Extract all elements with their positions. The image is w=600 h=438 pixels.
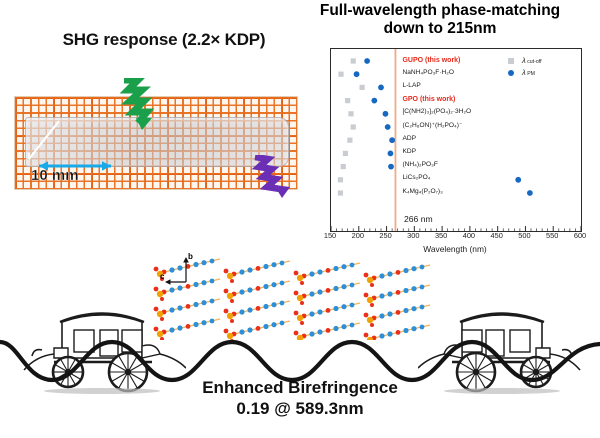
chart-canvas [331,49,581,231]
crystallographic-axes: b c [160,252,204,286]
legend-subscript: cut-off [526,59,542,65]
scale-bar-label: 10 mm [31,167,79,184]
x-tick-label: 550 [546,231,558,240]
birefringence-line2: 0.19 @ 589.3nm [60,399,540,420]
x-tick-label: 450 [490,231,502,240]
chart-row-label: (NH₄)₂PO₃F [402,162,437,169]
purple-wave-arrow [252,155,302,199]
crystal-facet-edge [27,119,61,163]
legend-subscript: PM [526,71,535,77]
birefringence-title: Enhanced Birefringence 0.19 @ 589.3nm [60,378,540,419]
chart-title: Full-wavelength phase-matching down to 2… [282,2,598,39]
chart-row-label: [C(NH2)₃]₂(PO₄)₂·3H₂O [402,109,471,116]
shg-response-title: SHG response (2.2× KDP) [14,30,314,50]
chart-row-label: KDP [402,149,416,156]
green-wave-arrow [118,78,180,132]
axis-label-c: c [160,272,165,281]
x-tick-label: 250 [379,231,391,240]
legend-label: λ cut-off [522,56,542,65]
x-tick-label: 150 [324,231,336,240]
x-tick-label: 600 [574,231,586,240]
x-tick-label: 350 [435,231,447,240]
chart-title-line2: down to 215nm [282,20,598,38]
chart-row-label: (C₂H₈ON)⁺(H₂PO₄)⁻ [402,123,462,130]
chart-title-line1: Full-wavelength phase-matching [282,2,598,20]
x-tick-label: 500 [518,231,530,240]
x-tick-label: 300 [407,231,419,240]
birefringence-line1: Enhanced Birefringence [60,378,540,399]
phase-matching-chart [330,48,582,232]
legend-marker-pm [508,70,514,76]
x-tick-label: 400 [463,231,475,240]
x-axis-tick-labels: 150200250300350400450500550600 [330,231,580,245]
chart-row-label: GUPO (this work) [402,57,460,64]
chart-row-label: L-LAP [402,83,420,90]
reference-line-label: 266 nm [404,214,433,224]
legend-label: λ PM [522,68,535,77]
chart-row-label: ADP [402,136,416,143]
x-tick-label: 200 [352,231,364,240]
chart-row-label: K₄Mg₄(P₂O₇)₃ [402,189,442,196]
chart-row-label: NaNH₄PO₃F·H₂O [402,70,454,77]
legend-marker-cutoff [508,58,514,64]
axis-label-b: b [188,252,193,261]
chart-row-label: LiCs₂PO₄ [402,175,430,182]
chart-row-label: GPO (this work) [402,96,455,103]
